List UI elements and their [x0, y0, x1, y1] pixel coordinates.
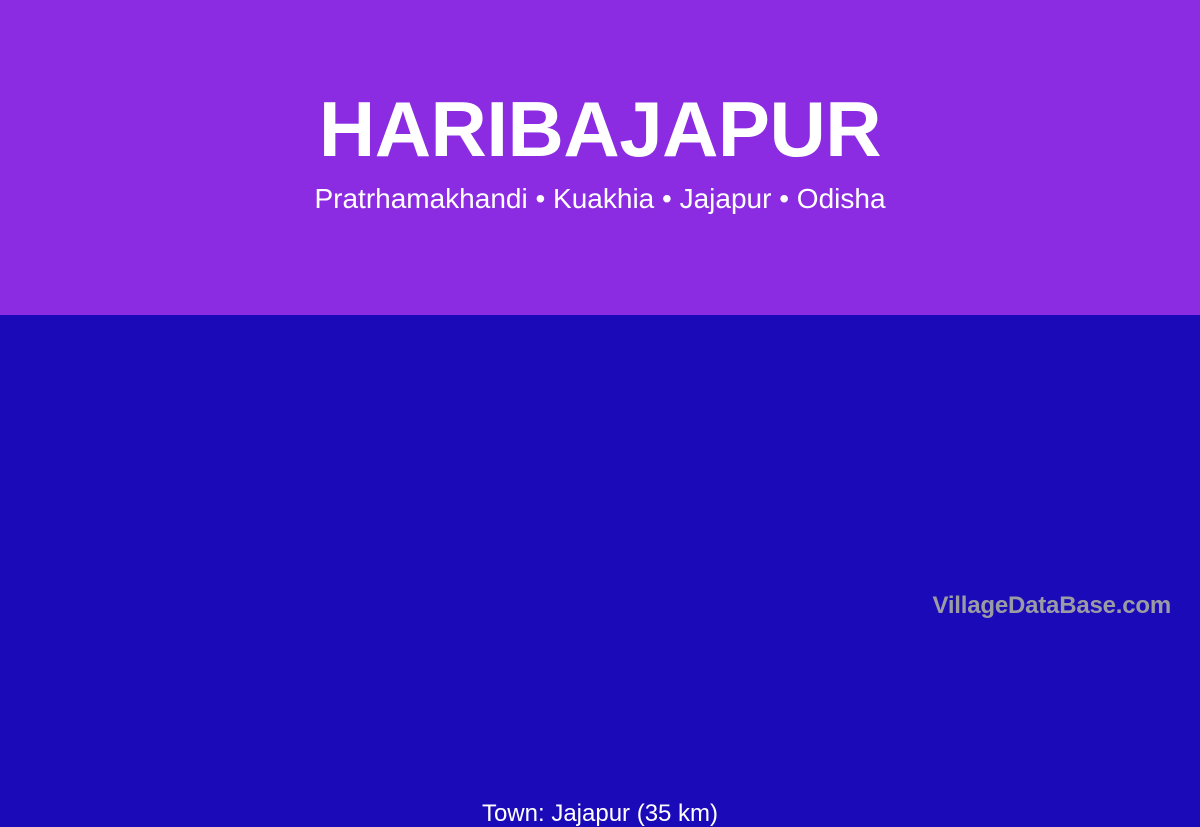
village-info-card: HARIBAJAPUR Pratrhamakhandi • Kuakhia • … [0, 0, 1200, 630]
card-header-band: HARIBAJAPUR Pratrhamakhandi • Kuakhia • … [0, 0, 1200, 315]
breadcrumb: Pratrhamakhandi • Kuakhia • Jajapur • Od… [0, 185, 1200, 213]
card-body-band: Town: Jajapur (35 km) [0, 315, 1200, 630]
nearest-town-detail: Town: Jajapur (35 km) [0, 802, 1200, 826]
page-title: HARIBAJAPUR [0, 90, 1200, 168]
site-watermark: VillageDataBase.com [932, 594, 1171, 618]
